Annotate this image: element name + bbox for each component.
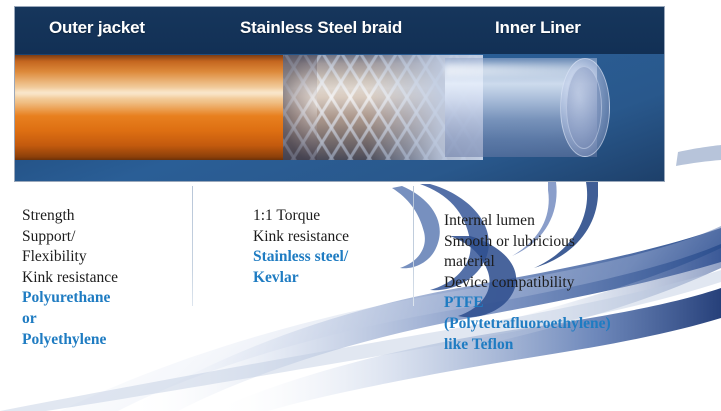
text-column-stainless-steel-braid: 1:1 Torque Kink resistance Stainless ste… [253,206,418,288]
banner-label-row: Outer jacket Stainless Steel braid Inner… [15,7,664,54]
outer-jacket-layer [15,55,307,160]
liner-plain-line-4: Device compatibility [444,273,689,294]
braid-plain-line-1: 1:1 Torque [253,206,418,227]
outer-plain-line-3: Flexibility [22,247,187,268]
outer-accent-line-3: Polyethylene [22,330,187,351]
liner-plain-line-1: Internal lumen [444,211,689,232]
banner-label-outer-jacket: Outer jacket [49,18,145,38]
text-column-outer-jacket: Strength Support/ Flexibility Kink resis… [22,206,187,350]
text-column-inner-liner: Internal lumen Smooth or lubricious mate… [444,211,689,355]
outer-plain-line-4: Kink resistance [22,268,187,289]
liner-accent-line-2: (Polytetrafluoroethylene) [444,314,689,335]
column-divider-left [192,186,193,306]
braid-end-shading [283,55,317,160]
inner-liner-bore [566,66,602,149]
outer-plain-line-1: Strength [22,206,187,227]
cable-cutaway-banner: Outer jacket Stainless Steel braid Inner… [14,6,665,182]
braid-accent-line-1: Stainless steel/ [253,247,418,268]
liner-accent-line-1: PTFE [444,293,689,314]
outer-accent-line-2: or [22,309,187,330]
banner-label-inner-liner: Inner Liner [495,18,581,38]
liner-accent-line-3: like Teflon [444,335,689,356]
liner-plain-line-2: Smooth or lubricious [444,232,689,253]
jacket-specular-highlight [15,90,307,96]
liner-plain-line-3: material [444,252,689,273]
swoosh-flick-right [676,145,721,166]
braid-accent-line-2: Kevlar [253,268,418,289]
outer-plain-line-2: Support/ [22,227,187,248]
banner-label-stainless-steel-braid: Stainless Steel braid [240,18,402,38]
inner-liner-highlight [445,64,585,76]
cable-illustration [15,54,665,182]
braid-plain-line-2: Kink resistance [253,227,418,248]
outer-accent-line-1: Polyurethane [22,288,187,309]
